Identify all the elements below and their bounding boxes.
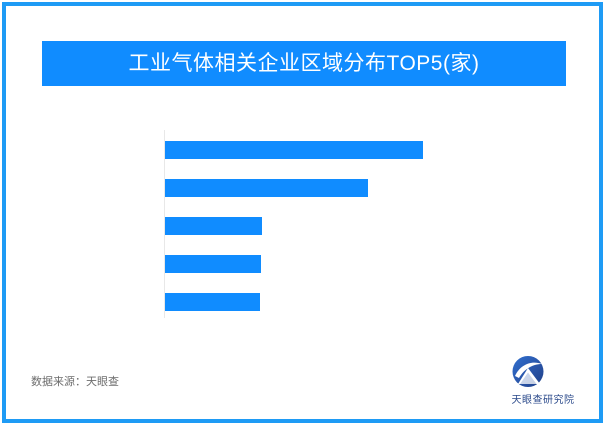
chart-title-banner: 工业气体相关企业区域分布TOP5(家) xyxy=(42,41,566,86)
brand-logo: 天眼查研究院 xyxy=(497,355,589,407)
page-title: 工业气体相关企业区域分布TOP5(家) xyxy=(129,53,480,74)
bar-fill xyxy=(165,179,368,197)
brand-logo-caption: 天眼查研究院 xyxy=(497,391,589,406)
bar-fill xyxy=(165,217,262,235)
bar-fill xyxy=(165,293,260,311)
bar-chart: 江苏省广东省河北省贵州省上海市 xyxy=(0,118,605,333)
chart-card: 工业气体相关企业区域分布TOP5(家) 江苏省广东省河北省贵州省上海市 数据来源… xyxy=(0,0,605,425)
tianyancha-logo-icon xyxy=(511,355,547,389)
bar-fill xyxy=(165,141,423,159)
data-source-label: 数据来源：天眼查 xyxy=(31,373,119,389)
bar-fill xyxy=(165,255,261,273)
